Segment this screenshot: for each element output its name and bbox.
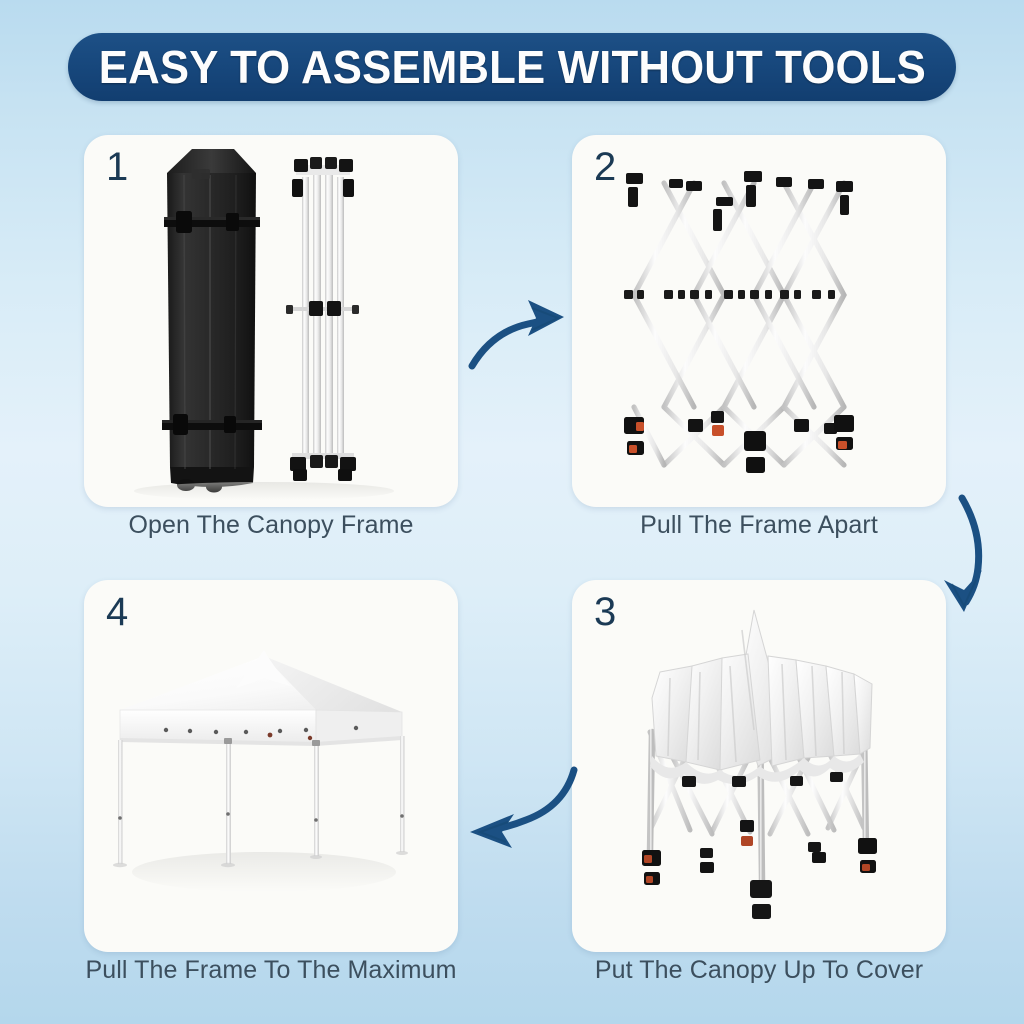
tent-legs <box>118 736 405 864</box>
step-3-illustration <box>572 580 946 952</box>
step-2-illustration <box>572 135 946 507</box>
step-caption-4: Pull The Frame To The Maximum <box>54 956 488 985</box>
mid-connectors <box>624 290 835 299</box>
step-number-3: 3 <box>594 588 616 636</box>
step-card-2: 2 <box>572 135 946 507</box>
step-4-illustration <box>84 580 458 952</box>
arrow-step1-to-step2 <box>466 288 578 374</box>
step-number-1: 1 <box>106 143 128 191</box>
arrow-step3-to-step4 <box>456 756 582 852</box>
step-1-illustration <box>84 135 458 507</box>
carry-bag <box>162 149 262 493</box>
scissor-lattice <box>634 183 844 465</box>
folded-frame <box>286 157 359 481</box>
step-number-4: 4 <box>106 588 128 636</box>
title-banner: EASY TO ASSEMBLE WITHOUT TOOLS <box>68 33 956 101</box>
step-caption-2: Pull The Frame Apart <box>572 511 946 540</box>
step-number-2: 2 <box>594 143 616 191</box>
page-title: EASY TO ASSEMBLE WITHOUT TOOLS <box>98 40 925 94</box>
arrow-step2-to-step3 <box>938 488 1020 624</box>
step-card-1: 1 <box>84 135 458 507</box>
top-connectors <box>626 171 853 231</box>
canopy-fabric <box>652 610 872 770</box>
leg-adjusters <box>118 812 404 822</box>
step-caption-3: Put The Canopy Up To Cover <box>572 956 946 985</box>
step-card-4: 4 <box>84 580 458 952</box>
step-caption-1: Open The Canopy Frame <box>84 511 458 540</box>
step-card-3: 3 <box>572 580 946 952</box>
